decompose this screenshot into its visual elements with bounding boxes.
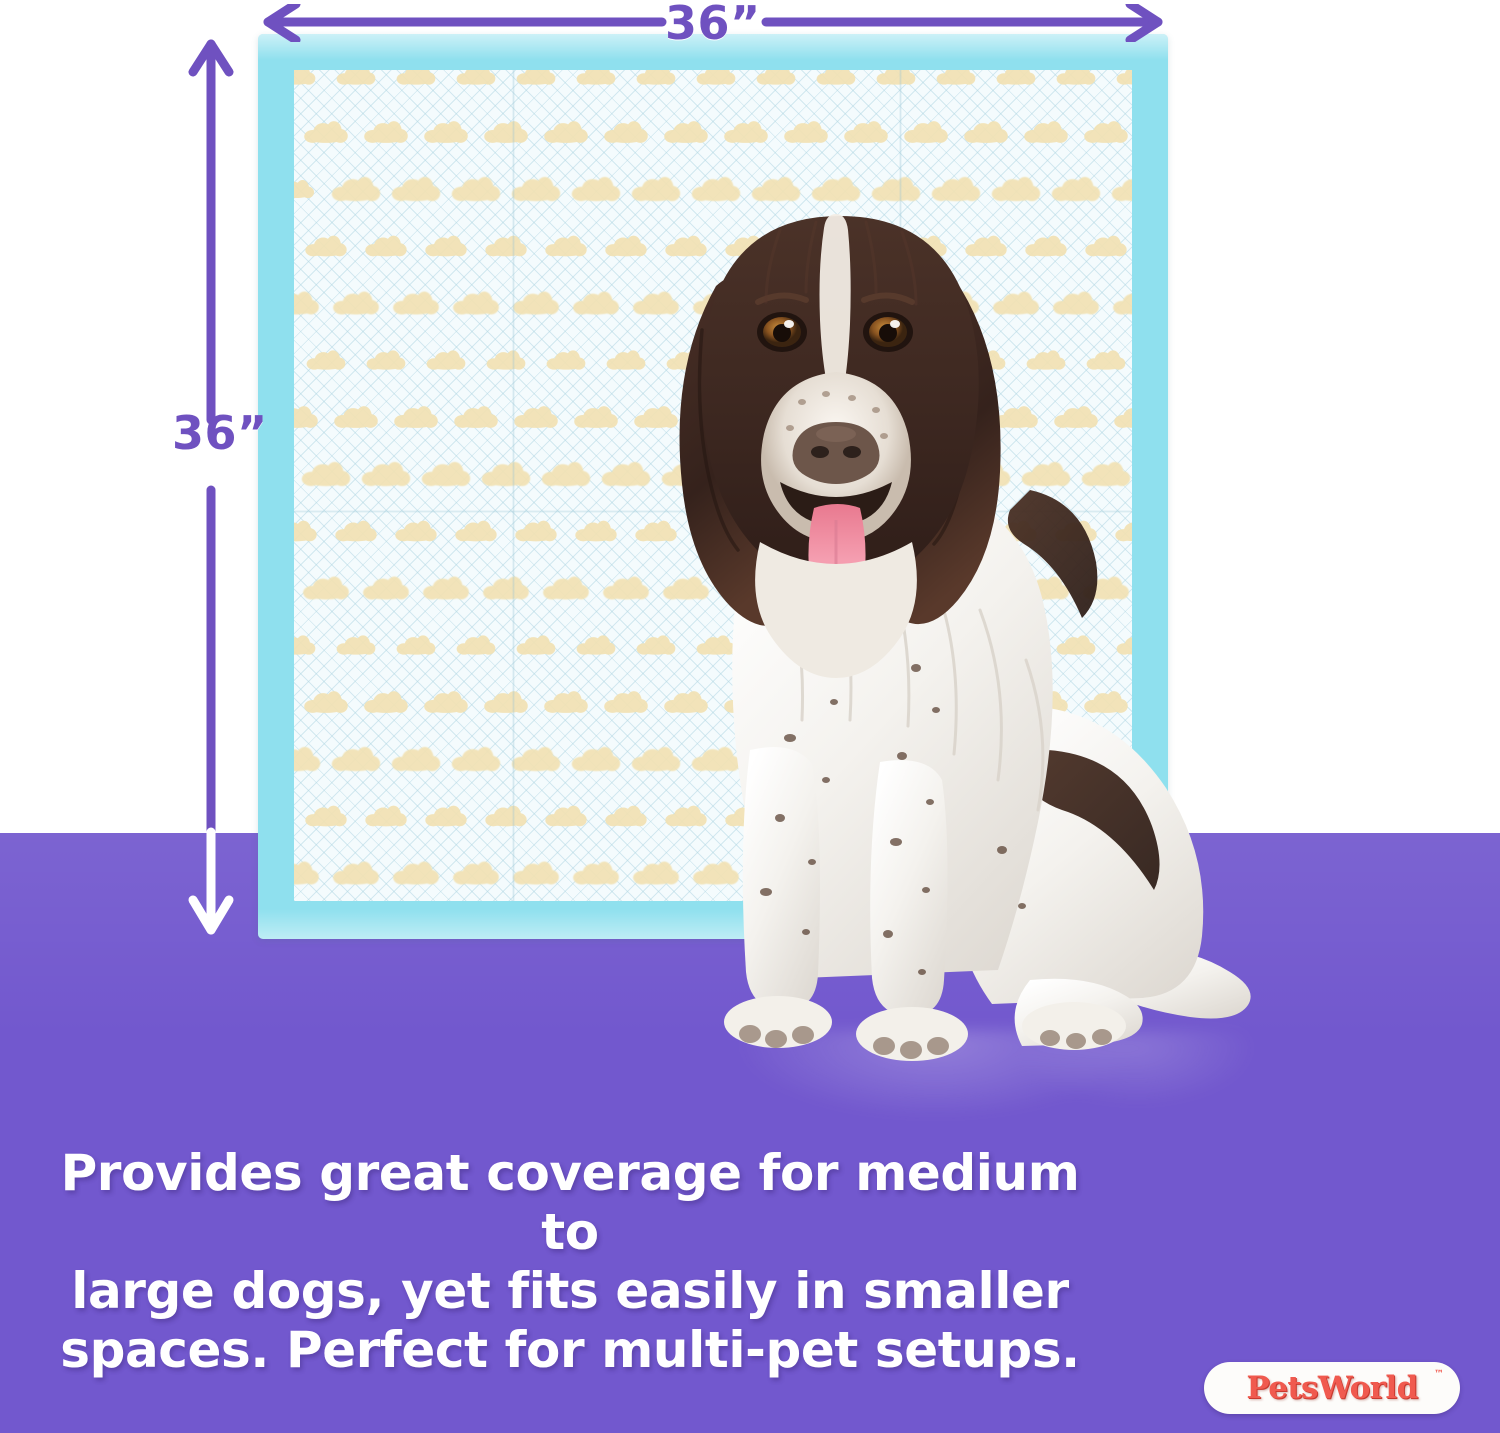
width-dimension-label: 36” — [665, 0, 761, 50]
cloud-motif — [513, 292, 559, 315]
caption-line-3: spaces. Perfect for multi-pet setups. — [40, 1321, 1100, 1380]
marketing-caption: Provides great coverage for medium to la… — [40, 1144, 1100, 1380]
cloud-motif — [424, 121, 468, 143]
cloud-motif — [517, 635, 556, 654]
cloud-motif — [572, 747, 620, 771]
cloud-motif — [294, 635, 315, 654]
trademark-symbol: ™ — [1434, 1369, 1444, 1380]
cloud-motif — [367, 350, 406, 369]
cloud-motif — [392, 177, 440, 201]
cloud-motif — [363, 577, 409, 600]
cloud-motif — [457, 70, 496, 85]
cloud-motif — [393, 862, 439, 885]
cloud-motif — [365, 806, 406, 827]
cloud-motif — [334, 406, 378, 428]
cloud-motif — [544, 121, 588, 143]
cloud-motif — [455, 521, 496, 542]
cloud-motif — [423, 577, 469, 600]
cloud-motif — [964, 121, 1008, 143]
cloud-motif — [303, 577, 349, 600]
cloud-motif — [482, 462, 530, 486]
cloud-motif — [305, 236, 346, 257]
cloud-motif — [294, 521, 317, 542]
cloud-motif — [483, 577, 529, 600]
cloud-motif — [513, 862, 559, 885]
cloud-motif — [545, 236, 586, 257]
cloud-motif — [427, 350, 466, 369]
cloud-motif — [337, 70, 376, 85]
height-dimension-label: 36” — [172, 406, 268, 460]
product-image-canvas: 36” 36” Provides great coverage for medi… — [0, 0, 1500, 1433]
cloud-motif — [333, 862, 379, 885]
cloud-motif — [362, 462, 410, 486]
cloud-motif — [573, 292, 619, 315]
cloud-motif — [542, 462, 590, 486]
brand-name: PetsWorld — [1246, 1370, 1417, 1406]
cloud-motif — [817, 70, 856, 85]
cloud-motif — [487, 350, 526, 369]
cloud-motif — [1117, 70, 1132, 85]
cloud-motif — [904, 121, 948, 143]
cloud-motif — [302, 462, 350, 486]
cloud-motif — [697, 70, 736, 85]
cloud-motif — [572, 177, 620, 201]
cloud-motif — [1057, 70, 1096, 85]
cloud-motif — [784, 121, 828, 143]
cloud-motif — [304, 691, 348, 713]
cloud-motif — [395, 521, 436, 542]
cloud-motif — [1024, 121, 1068, 143]
cloud-motif — [604, 121, 648, 143]
cloud-motif — [485, 236, 526, 257]
cloud-motif — [335, 521, 376, 542]
cloud-motif — [294, 70, 315, 85]
cloud-motif — [452, 747, 500, 771]
cloud-motif — [453, 862, 499, 885]
brand-logo: PetsWorld ™ — [1204, 1362, 1460, 1414]
cloud-motif — [877, 70, 916, 85]
cloud-motif — [452, 177, 500, 201]
cloud-motif — [454, 406, 498, 428]
caption-line-2: large dogs, yet fits easily in smaller — [40, 1262, 1100, 1321]
cloud-motif — [724, 121, 768, 143]
cloud-motif — [294, 747, 320, 771]
cloud-motif — [844, 121, 888, 143]
cloud-motif — [453, 292, 499, 315]
cloud-motif — [457, 635, 496, 654]
cloud-motif — [575, 521, 616, 542]
dog-eye-right — [863, 312, 913, 352]
cloud-motif — [543, 577, 589, 600]
cloud-motif — [294, 862, 319, 885]
cloud-motif — [364, 691, 408, 713]
dog-photo — [630, 190, 1280, 1070]
cloud-motif — [397, 635, 436, 654]
cloud-motif — [294, 180, 314, 198]
cloud-motif — [425, 236, 466, 257]
cloud-motif — [304, 121, 348, 143]
caption-line-1: Provides great coverage for medium to — [40, 1144, 1100, 1262]
height-dimension-arrow — [186, 34, 238, 942]
cloud-motif — [333, 292, 379, 315]
cloud-motif — [393, 292, 439, 315]
cloud-motif — [305, 806, 346, 827]
cloud-motif — [997, 70, 1036, 85]
cloud-motif — [1084, 121, 1128, 143]
cloud-motif — [574, 406, 618, 428]
cloud-motif — [484, 121, 528, 143]
cloud-motif — [364, 121, 408, 143]
cloud-motif — [545, 806, 586, 827]
cloud-motif — [547, 350, 586, 369]
cloud-motif — [484, 691, 528, 713]
dog-eye-left — [757, 312, 807, 352]
cloud-motif — [577, 70, 616, 85]
cloud-motif — [512, 747, 560, 771]
cloud-motif — [294, 292, 319, 315]
cloud-motif — [515, 521, 556, 542]
cloud-motif — [573, 862, 619, 885]
cloud-motif — [294, 406, 318, 428]
cloud-motif — [365, 236, 406, 257]
cloud-motif — [332, 747, 380, 771]
cloud-motif — [337, 635, 376, 654]
cloud-motif — [397, 70, 436, 85]
cloud-motif — [332, 177, 380, 201]
cloud-motif — [425, 806, 466, 827]
cloud-motif — [517, 70, 556, 85]
cloud-motif — [422, 462, 470, 486]
cloud-motif — [664, 121, 708, 143]
pad-fold-line — [512, 70, 515, 901]
cloud-motif — [577, 635, 616, 654]
cloud-motif — [512, 177, 560, 201]
cloud-motif — [637, 70, 676, 85]
cloud-motif — [757, 70, 796, 85]
cloud-motif — [424, 691, 468, 713]
cloud-motif — [544, 691, 588, 713]
cloud-motif — [514, 406, 558, 428]
cloud-motif — [485, 806, 526, 827]
cloud-motif — [394, 406, 438, 428]
cloud-motif — [307, 350, 346, 369]
cloud-motif — [392, 747, 440, 771]
cloud-motif — [937, 70, 976, 85]
